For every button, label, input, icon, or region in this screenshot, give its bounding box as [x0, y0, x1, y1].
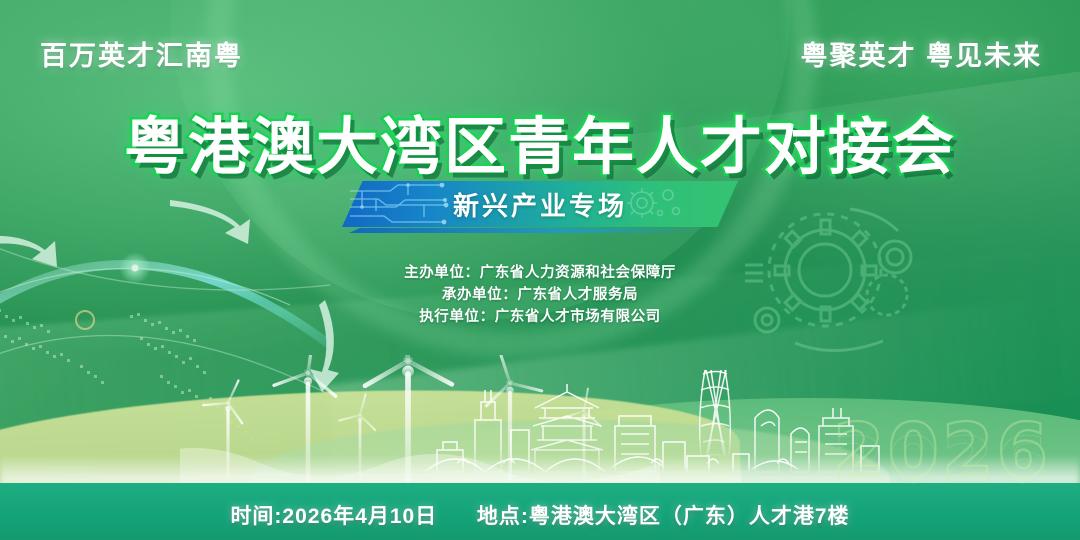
organizer-label: 承办单位： [442, 287, 518, 303]
page-title: 粤港澳大湾区青年人才对接会 [0, 96, 1080, 186]
slogan-right: 粤聚英才 粤见未来 [800, 34, 1042, 73]
subtitle-text: 新兴产业专场 [342, 181, 738, 227]
organizer-value: 广东省人才服务局 [517, 287, 638, 303]
subtitle-underline [349, 228, 709, 233]
organizer-label: 主办单位： [404, 265, 480, 281]
organizer-value: 广东省人力资源和社会保障厅 [480, 265, 676, 281]
event-footer: 时间:2026年4月10日 地点:粤港澳大湾区（广东）人才港7楼 [0, 500, 1080, 530]
event-poster: 2026 2026 百万英才汇南粤 粤聚英才 粤见未来 粤港澳大湾区青年人才对接… [0, 0, 1080, 540]
year-watermark-2026: 2026 2026 [832, 408, 1052, 494]
organizer-list: 主办单位：广东省人力资源和社会保障厅 承办单位：广东省人才服务局 执行单位：广东… [0, 262, 1080, 328]
svg-text:2026: 2026 [833, 424, 1051, 494]
organizer-value: 广东省人才市场有限公司 [495, 309, 661, 325]
subtitle-banner: 新兴产业专场 [342, 181, 738, 227]
organizer-row: 承办单位：广东省人才服务局 [0, 284, 1080, 306]
organizer-label: 执行单位： [419, 309, 495, 325]
event-time: 时间:2026年4月10日 [230, 505, 437, 528]
event-place: 地点:粤港澳大湾区（广东）人才港7楼 [477, 505, 850, 528]
slogan-left: 百万英才汇南粤 [40, 34, 243, 73]
organizer-row: 执行单位：广东省人才市场有限公司 [0, 306, 1080, 328]
organizer-row: 主办单位：广东省人力资源和社会保障厅 [0, 262, 1080, 284]
